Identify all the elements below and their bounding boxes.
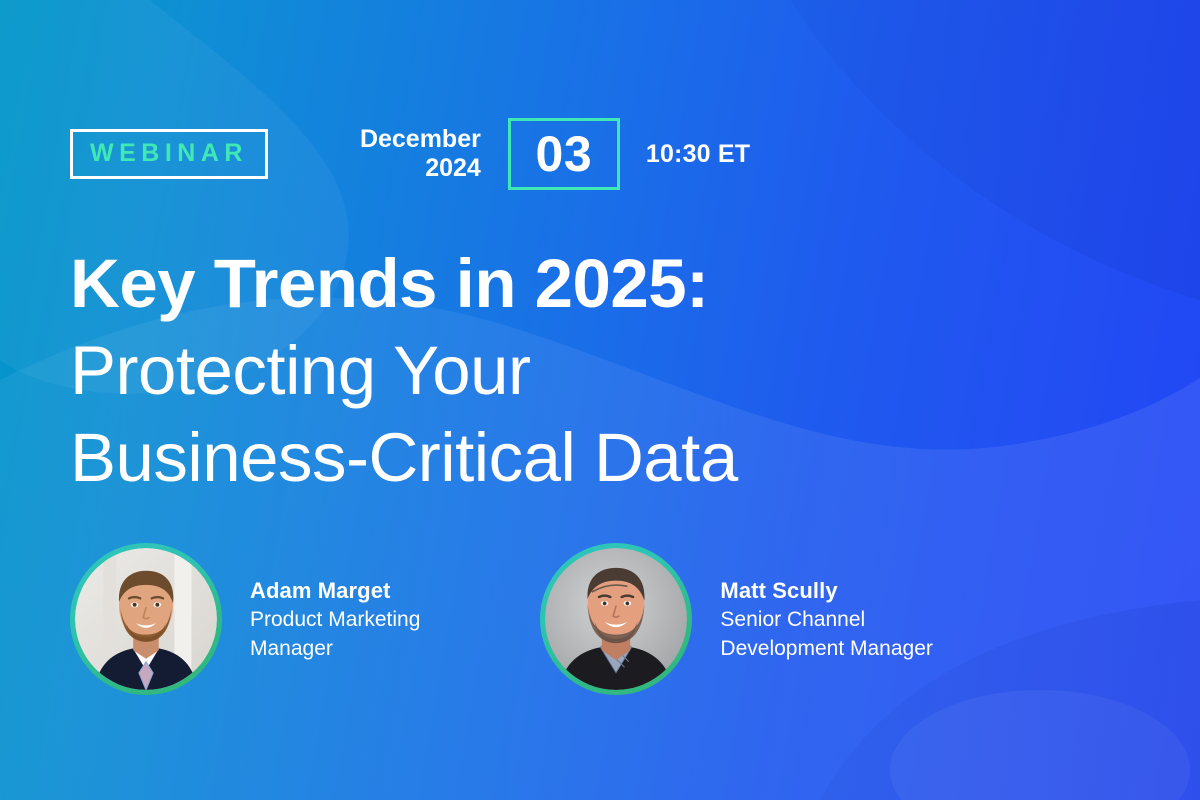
event-time: 10:30 ET bbox=[646, 140, 750, 169]
speaker-info: Matt Scully Senior Channel Development M… bbox=[720, 576, 932, 663]
avatar-ring bbox=[540, 543, 692, 695]
speaker-card: Matt Scully Senior Channel Development M… bbox=[540, 543, 932, 695]
speaker-name: Matt Scully bbox=[720, 576, 932, 605]
avatar bbox=[75, 548, 217, 690]
speaker-title: Product Marketing Manager bbox=[250, 605, 420, 663]
speaker-title: Senior Channel Development Manager bbox=[720, 605, 932, 663]
headline-line-1: Key Trends in 2025: bbox=[70, 240, 970, 327]
speaker-name: Adam Marget bbox=[250, 576, 420, 605]
event-day-number: 03 bbox=[536, 129, 593, 179]
wave-shape-bottom-ellipse bbox=[890, 690, 1190, 800]
speaker-title-line-1: Senior Channel bbox=[720, 605, 932, 634]
event-month-year: December 2024 bbox=[360, 125, 481, 183]
event-month: December bbox=[360, 125, 481, 154]
webinar-badge: WEBINAR bbox=[70, 129, 268, 179]
page-title: Key Trends in 2025: Protecting Your Busi… bbox=[70, 240, 970, 501]
speaker-title-line-2: Manager bbox=[250, 634, 420, 663]
avatar-ring bbox=[70, 543, 222, 695]
headline-line-3: Business-Critical Data bbox=[70, 414, 970, 501]
webinar-promo-banner: WEBINAR December 2024 03 10:30 ET Key Tr… bbox=[0, 0, 1200, 800]
headline-line-2: Protecting Your bbox=[70, 327, 970, 414]
speaker-title-line-1: Product Marketing bbox=[250, 605, 420, 634]
speaker-title-line-2: Development Manager bbox=[720, 634, 932, 663]
adam-marget-headshot-icon bbox=[75, 548, 217, 690]
speaker-card: Adam Marget Product Marketing Manager bbox=[70, 543, 420, 695]
event-meta-row: WEBINAR December 2024 03 10:30 ET bbox=[70, 122, 750, 186]
avatar bbox=[545, 548, 687, 690]
speaker-info: Adam Marget Product Marketing Manager bbox=[250, 576, 420, 663]
speaker-list: Adam Marget Product Marketing Manager bbox=[70, 543, 933, 695]
webinar-badge-label: WEBINAR bbox=[90, 141, 248, 166]
matt-scully-headshot-icon bbox=[545, 548, 687, 690]
event-year: 2024 bbox=[360, 154, 481, 183]
event-day-box: 03 bbox=[508, 118, 620, 190]
